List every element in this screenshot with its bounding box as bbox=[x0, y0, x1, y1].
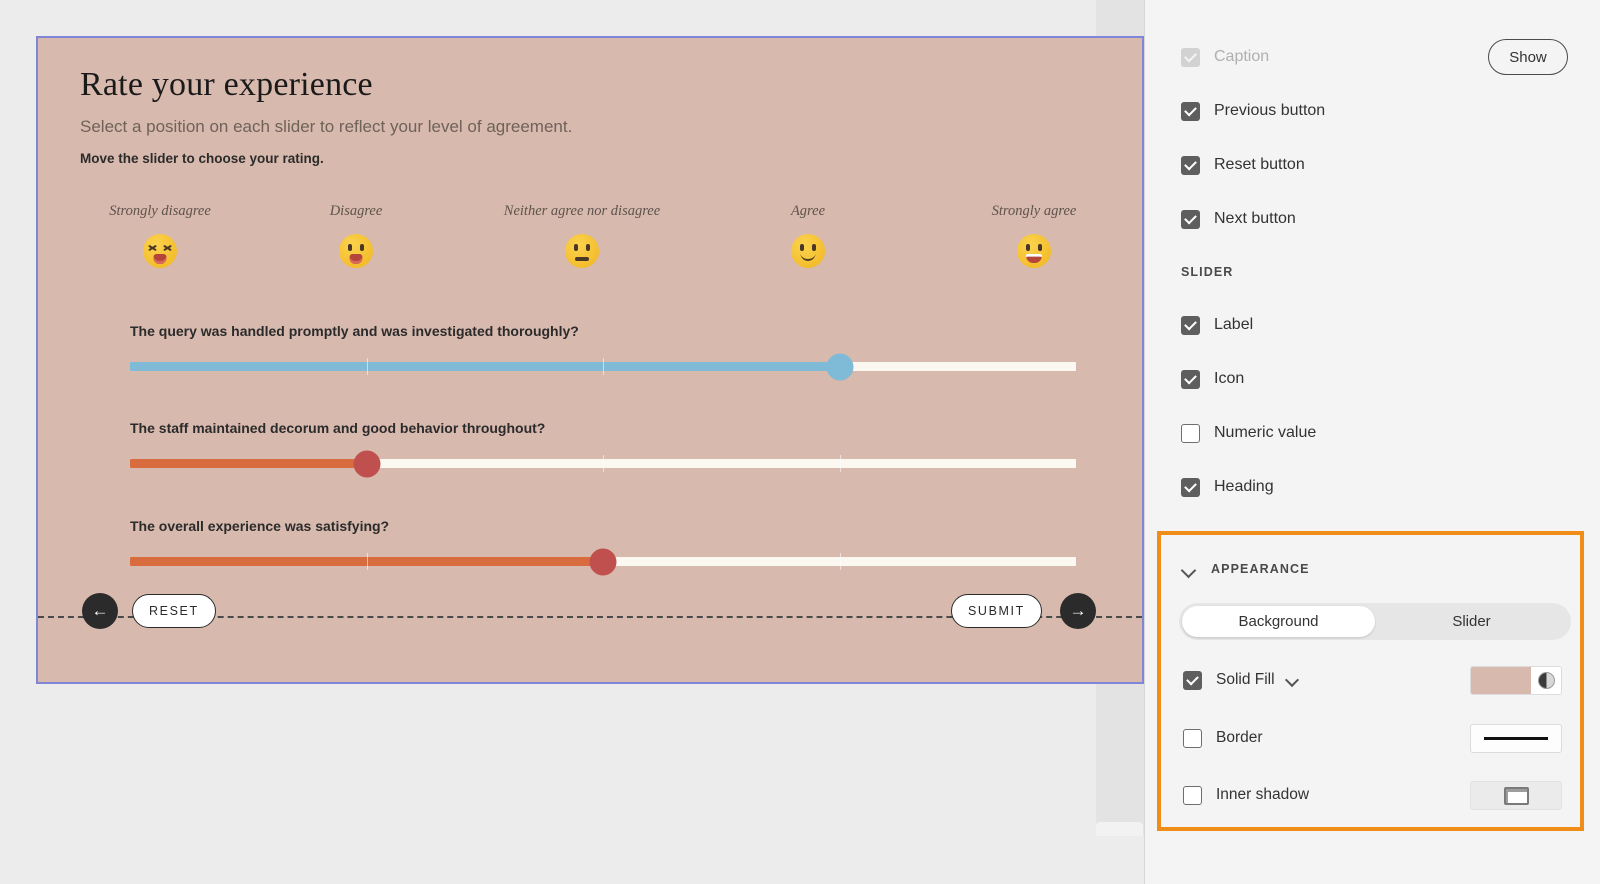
bottom-panel-handle[interactable] bbox=[1096, 822, 1143, 836]
fill-color-swatch[interactable] bbox=[1470, 666, 1562, 695]
slider-fill bbox=[130, 459, 367, 468]
slider-thumb[interactable] bbox=[353, 450, 380, 477]
tab-background[interactable]: Background bbox=[1182, 606, 1375, 637]
inner-shadow-icon bbox=[1504, 787, 1529, 805]
color-preview[interactable] bbox=[1471, 667, 1531, 694]
slider-section-heading: SLIDER bbox=[1181, 265, 1233, 279]
stroke-line-icon bbox=[1484, 737, 1548, 740]
scale-label: Strongly disagree bbox=[80, 202, 240, 221]
row-border[interactable]: Border bbox=[1183, 725, 1263, 751]
border-checkbox[interactable] bbox=[1183, 729, 1202, 748]
page-title: Rate your experience bbox=[80, 66, 373, 104]
next-button[interactable]: → bbox=[1060, 593, 1096, 629]
row-next-button[interactable]: Next button bbox=[1181, 207, 1296, 231]
scale-item-neither: Neither agree nor disagree bbox=[502, 202, 662, 273]
row-label: Inner shadow bbox=[1216, 786, 1309, 804]
slider-question: The overall experience was satisfying? bbox=[130, 518, 1100, 534]
app-root: Rate your experience Select a position o… bbox=[0, 0, 1600, 884]
scale-item-strongly-agree: Strongly agree bbox=[954, 202, 1114, 273]
slider-track-wrap[interactable] bbox=[80, 358, 1100, 372]
row-caption[interactable]: Caption bbox=[1181, 45, 1269, 69]
numeric-value-checkbox[interactable] bbox=[1181, 424, 1200, 443]
appearance-section: APPEARANCE Background Slider Solid Fill … bbox=[1157, 531, 1584, 831]
row-icon-toggle[interactable]: Icon bbox=[1181, 367, 1244, 391]
inner-shadow-checkbox[interactable] bbox=[1183, 786, 1202, 805]
appearance-heading: APPEARANCE bbox=[1211, 562, 1310, 576]
row-label: Icon bbox=[1214, 370, 1244, 388]
row-label: Numeric value bbox=[1214, 424, 1316, 442]
row-solid-fill[interactable]: Solid Fill bbox=[1183, 667, 1298, 693]
canvas-workspace: Rate your experience Select a position o… bbox=[0, 0, 1144, 884]
scale-label: Neither agree nor disagree bbox=[502, 202, 662, 221]
icon-checkbox[interactable] bbox=[1181, 370, 1200, 389]
row-label: Solid Fill bbox=[1216, 671, 1275, 689]
scale-item-agree: Agree bbox=[728, 202, 888, 273]
slider-question: The staff maintained decorum and good be… bbox=[130, 420, 1100, 436]
rating-scale-row: Strongly disagree Disagree bbox=[80, 202, 1100, 307]
chevron-down-icon[interactable] bbox=[1183, 565, 1195, 577]
row-label-toggle[interactable]: Label bbox=[1181, 313, 1253, 337]
slide-canvas: Rate your experience Select a position o… bbox=[38, 38, 1142, 682]
scale-item-strongly-disagree: Strongly disagree bbox=[80, 202, 240, 273]
row-label: Next button bbox=[1214, 210, 1296, 228]
show-button[interactable]: Show bbox=[1488, 39, 1568, 75]
slider-group-3: The overall experience was satisfying? bbox=[80, 518, 1100, 567]
frowning-open-mouth-face-icon bbox=[339, 234, 373, 268]
slightly-smiling-face-icon bbox=[791, 234, 825, 268]
opacity-icon[interactable] bbox=[1531, 667, 1561, 694]
reset-button-checkbox[interactable] bbox=[1181, 156, 1200, 175]
row-reset-button[interactable]: Reset button bbox=[1181, 153, 1305, 177]
row-label: Previous button bbox=[1214, 102, 1325, 120]
scale-item-disagree: Disagree bbox=[276, 202, 436, 273]
border-stroke-preview[interactable] bbox=[1470, 724, 1562, 753]
page-instruction: Move the slider to choose your rating. bbox=[80, 151, 324, 166]
slider-track[interactable] bbox=[130, 362, 1076, 371]
row-label: Caption bbox=[1214, 48, 1269, 66]
scale-label: Strongly agree bbox=[954, 202, 1114, 221]
slider-track[interactable] bbox=[130, 459, 1076, 468]
scale-label: Agree bbox=[728, 202, 888, 221]
next-button-checkbox[interactable] bbox=[1181, 210, 1200, 229]
row-numeric-value-toggle[interactable]: Numeric value bbox=[1181, 421, 1316, 445]
neutral-face-icon bbox=[565, 234, 599, 268]
previous-button[interactable]: ← bbox=[82, 593, 118, 629]
caption-checkbox[interactable] bbox=[1181, 48, 1200, 67]
row-label: Label bbox=[1214, 316, 1253, 334]
chevron-down-icon[interactable] bbox=[1287, 675, 1298, 686]
previous-button-checkbox[interactable] bbox=[1181, 102, 1200, 121]
slider-group-1: The query was handled promptly and was i… bbox=[80, 323, 1100, 372]
slider-track[interactable] bbox=[130, 557, 1076, 566]
row-heading-toggle[interactable]: Heading bbox=[1181, 475, 1274, 499]
submit-button[interactable]: SUBMIT bbox=[951, 594, 1042, 628]
appearance-tab-group: Background Slider bbox=[1179, 603, 1571, 640]
page-subtitle: Select a position on each slider to refl… bbox=[80, 117, 572, 137]
slider-question: The query was handled promptly and was i… bbox=[130, 323, 1100, 339]
confounded-face-icon bbox=[143, 234, 177, 268]
tab-slider[interactable]: Slider bbox=[1375, 606, 1568, 637]
slider-track-wrap[interactable] bbox=[80, 455, 1100, 469]
slider-thumb[interactable] bbox=[826, 353, 853, 380]
slider-track-wrap[interactable] bbox=[80, 553, 1100, 567]
slider-fill bbox=[130, 362, 840, 371]
solid-fill-checkbox[interactable] bbox=[1183, 671, 1202, 690]
row-inner-shadow[interactable]: Inner shadow bbox=[1183, 782, 1309, 808]
scale-label: Disagree bbox=[276, 202, 436, 221]
inner-shadow-preview[interactable] bbox=[1470, 781, 1562, 810]
slider-thumb[interactable] bbox=[590, 548, 617, 575]
row-label: Heading bbox=[1214, 478, 1274, 496]
row-previous-button[interactable]: Previous button bbox=[1181, 99, 1325, 123]
label-checkbox[interactable] bbox=[1181, 316, 1200, 335]
row-label: Border bbox=[1216, 729, 1263, 747]
slider-group-2: The staff maintained decorum and good be… bbox=[80, 420, 1100, 469]
heading-checkbox[interactable] bbox=[1181, 478, 1200, 497]
row-label: Reset button bbox=[1214, 156, 1305, 174]
selected-canvas-frame[interactable]: Rate your experience Select a position o… bbox=[36, 36, 1144, 684]
grinning-face-icon bbox=[1017, 234, 1051, 268]
reset-button[interactable]: RESET bbox=[132, 594, 216, 628]
